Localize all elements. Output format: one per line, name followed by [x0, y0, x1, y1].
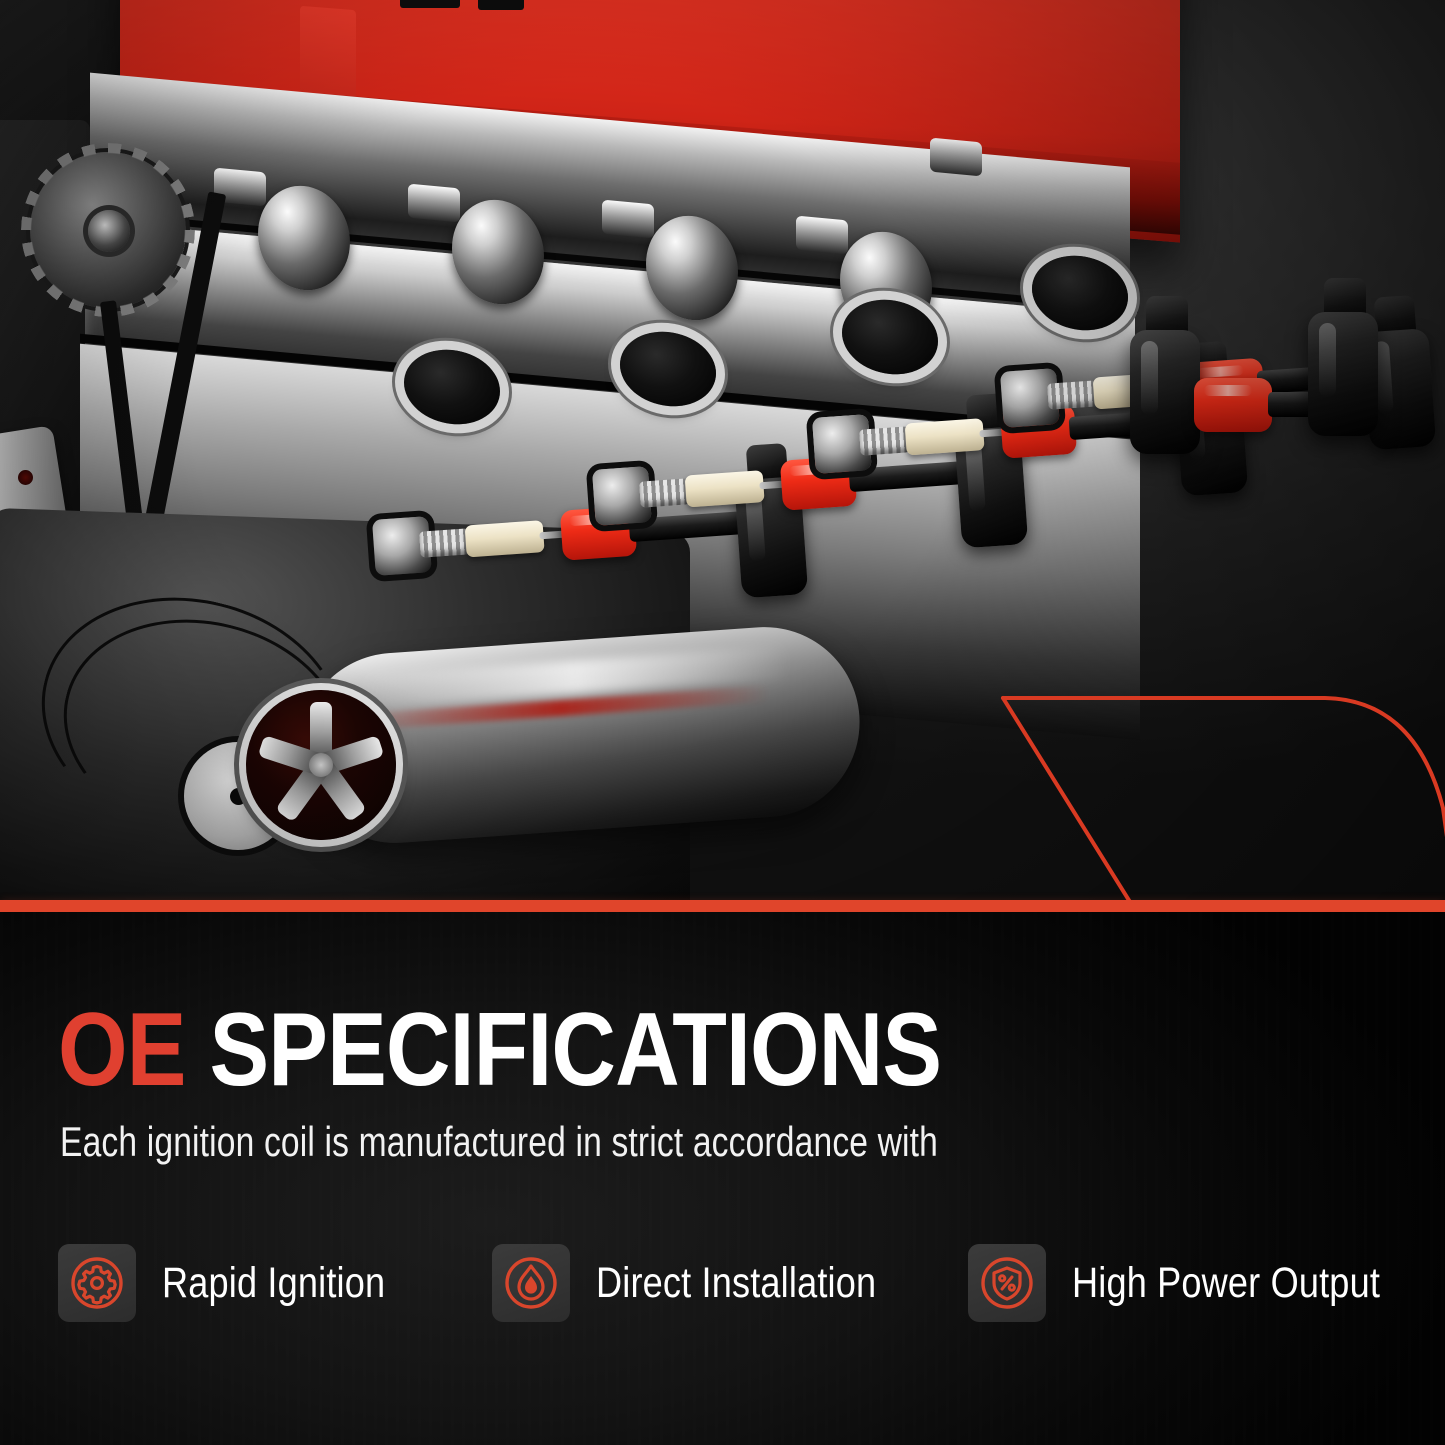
ceramic-insulator: [905, 418, 985, 455]
spark-plug-thread: [859, 426, 911, 455]
cover-notch: [478, 0, 524, 10]
feature-badge: [968, 1244, 1046, 1322]
feature-badge: [58, 1244, 136, 1322]
orange-divider: [0, 900, 1445, 912]
gear-icon: [69, 1255, 125, 1311]
coil-body: [1308, 312, 1378, 436]
rocker-cap: [602, 200, 654, 239]
ceramic-insulator: [465, 520, 545, 557]
feature-label: Direct Installation: [596, 1259, 876, 1308]
flame-icon: [503, 1255, 559, 1311]
sprocket-hub: [88, 210, 130, 252]
feature-item-high-power-output: High Power Output: [968, 1244, 1439, 1322]
ceramic-insulator: [685, 470, 765, 507]
rocker-cap: [796, 216, 848, 255]
rocker-cap: [408, 184, 460, 223]
headline-highlight: OE: [58, 992, 186, 1108]
cover-notch: [400, 0, 460, 8]
headline-rest: SPECIFICATIONS: [186, 992, 942, 1108]
shield-percent-icon: [979, 1255, 1035, 1311]
feature-label: Rapid Ignition: [162, 1259, 385, 1308]
page-title: OE SPECIFICATIONS: [58, 998, 941, 1102]
spark-plug-thread: [639, 478, 691, 507]
feature-label: High Power Output: [1072, 1259, 1380, 1308]
spark-plug-thread: [419, 528, 471, 557]
feature-badge: [492, 1244, 570, 1322]
feature-item-rapid-ignition: Rapid Ignition: [58, 1244, 428, 1322]
pulley-center: [309, 753, 333, 777]
coil-body: [1130, 330, 1200, 454]
pulley-disc-center: [230, 788, 247, 805]
feature-item-direct-installation: Direct Installation: [492, 1244, 930, 1322]
rocker-cap: [930, 138, 982, 177]
product-photo: [0, 0, 1445, 902]
feature-list: Rapid Ignition Direct Installation: [0, 1244, 1445, 1340]
product-banner: OE SPECIFICATIONS Each ignition coil is …: [0, 0, 1445, 1445]
subtitle: Each ignition coil is manufactured in st…: [60, 1118, 938, 1166]
red-coil-boot: [1194, 378, 1272, 432]
spark-plug-thread: [1047, 380, 1099, 409]
bracket-hole: [18, 470, 33, 485]
